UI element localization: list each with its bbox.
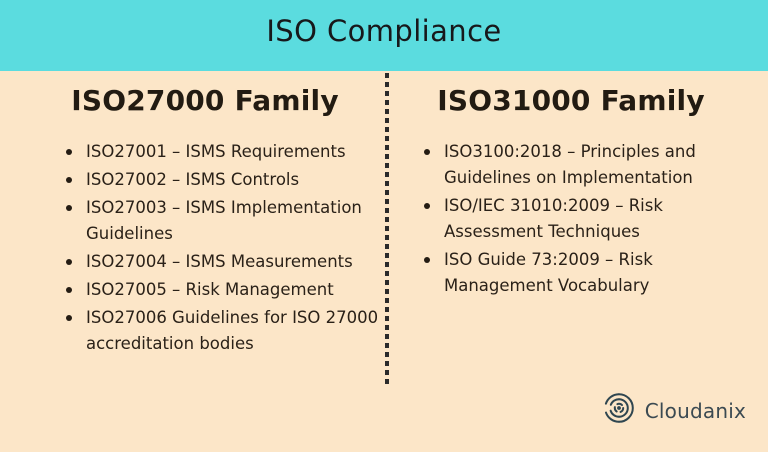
cloudanix-radar-icon: [602, 391, 636, 430]
list-item: ISO27003 – ISMS Implementation Guideline…: [60, 195, 380, 247]
iso27000-list: ISO27001 – ISMS Requirements ISO27002 – …: [60, 139, 380, 357]
list-item: ISO27004 – ISMS Measurements: [60, 249, 380, 275]
brand-name: Cloudanix: [645, 399, 746, 423]
iso31000-list: ISO3100:2018 – Principles and Guidelines…: [418, 139, 740, 299]
brand-logo: Cloudanix: [602, 391, 746, 430]
column-divider: [385, 73, 389, 385]
list-item: ISO27002 – ISMS Controls: [60, 167, 380, 193]
list-item: ISO3100:2018 – Principles and Guidelines…: [418, 139, 740, 191]
list-item: ISO27001 – ISMS Requirements: [60, 139, 380, 165]
slide-canvas: ISO Compliance ISO27000 Family ISO27001 …: [0, 0, 768, 452]
column-heading: ISO31000 Family: [402, 84, 740, 117]
header-band: ISO Compliance: [0, 0, 768, 71]
list-item: ISO/IEC 31010:2009 – Risk Assessment Tec…: [418, 193, 740, 245]
list-item: ISO Guide 73:2009 – Risk Management Voca…: [418, 247, 740, 299]
column-heading: ISO27000 Family: [30, 84, 380, 117]
column-iso31000: ISO31000 Family ISO3100:2018 – Principle…: [400, 84, 740, 301]
list-item: ISO27005 – Risk Management: [60, 277, 380, 303]
list-item: ISO27006 Guidelines for ISO 27000 accred…: [60, 305, 380, 357]
page-title: ISO Compliance: [0, 14, 768, 48]
column-iso27000: ISO27000 Family ISO27001 – ISMS Requirem…: [30, 84, 380, 359]
